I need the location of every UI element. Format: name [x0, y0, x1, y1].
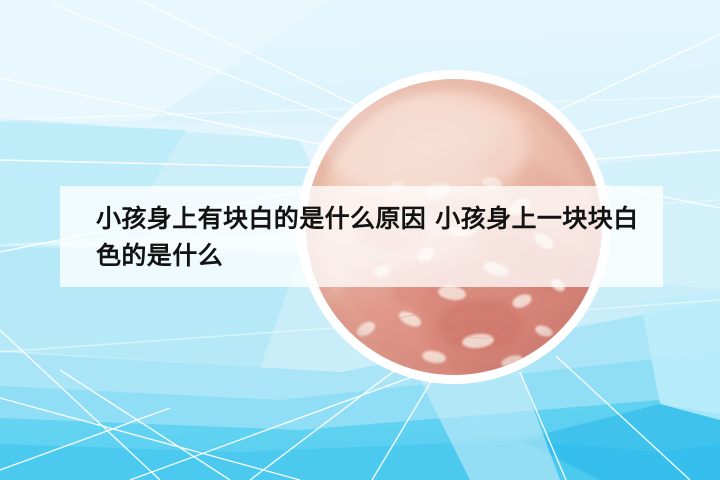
headline-overlay-band: 小孩身上有块白的是什么原因 小孩身上一块块白色的是什么	[60, 186, 663, 287]
thumbnail-canvas: 小孩身上有块白的是什么原因 小孩身上一块块白色的是什么	[0, 0, 720, 480]
page-title: 小孩身上有块白的是什么原因 小孩身上一块块白色的是什么	[96, 200, 656, 274]
